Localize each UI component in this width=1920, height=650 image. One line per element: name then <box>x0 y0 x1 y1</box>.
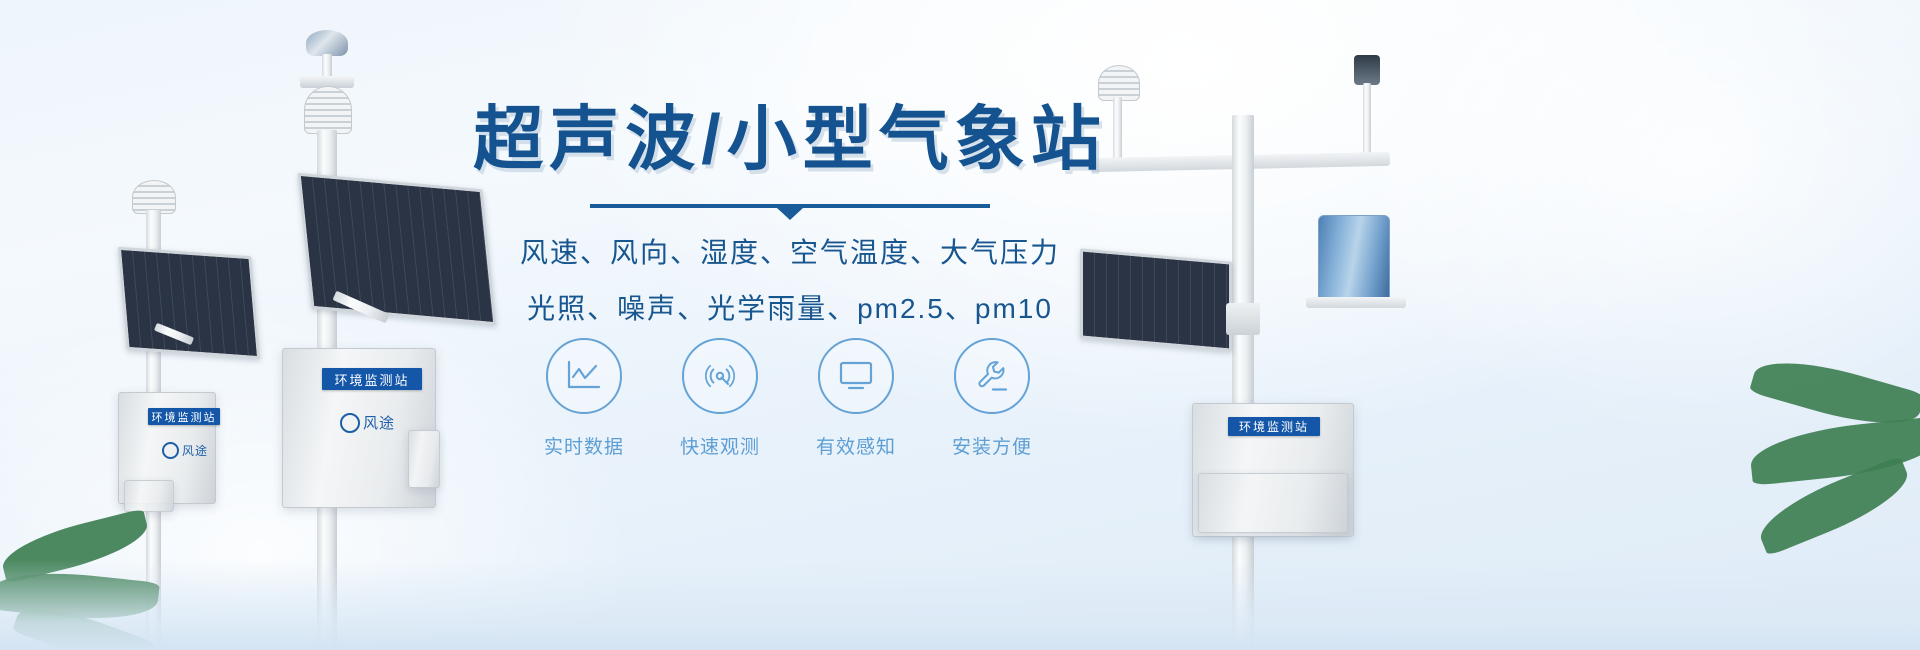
brand-logo-text: 风途 <box>363 412 395 433</box>
wind-vane-icon <box>1354 55 1380 85</box>
ultrasonic-sensor-icon <box>306 30 348 56</box>
ground-haze <box>0 560 1920 650</box>
wrench-tool-icon <box>973 358 1011 394</box>
feature-list: 实时数据 快速观测 有效感知 <box>528 338 1048 459</box>
brand-logo: 风途 <box>340 412 395 433</box>
lower-cross-arm <box>1306 297 1406 308</box>
subtitle-line-2: 光照、噪声、光学雨量、pm2.5、pm10 <box>450 282 1130 335</box>
hero-text-block: 超声波/小型气象站 风速、风向、湿度、空气温度、大气压力 光照、噪声、光学雨量、… <box>450 100 1130 335</box>
page-title: 超声波/小型气象站 <box>450 100 1130 178</box>
subtitle-line-1: 风速、风向、湿度、空气温度、大气压力 <box>450 226 1130 279</box>
sensor-stem-right <box>1363 83 1371 159</box>
feature-label: 快速观测 <box>664 432 776 459</box>
feature-item-realtime-data[interactable]: 实时数据 <box>528 338 640 459</box>
cabinet-side-box <box>408 430 440 488</box>
feature-item-easy-installation[interactable]: 安装方便 <box>936 338 1048 459</box>
feature-icon-circle <box>818 338 894 414</box>
brand-mark-icon <box>340 413 360 433</box>
brand-logo-text: 风途 <box>182 442 208 459</box>
pole-clamp <box>1226 303 1260 335</box>
feature-icon-circle <box>954 338 1030 414</box>
feature-item-fast-observation[interactable]: 快速观测 <box>664 338 776 459</box>
feature-label: 安装方便 <box>936 432 1048 459</box>
radiation-shield-icon <box>304 86 352 134</box>
radiation-shield-icon <box>1098 65 1140 101</box>
station-sign: 环境监测站 <box>148 408 220 425</box>
feature-label: 实时数据 <box>528 432 640 459</box>
radiation-shield-icon <box>132 180 176 214</box>
brand-logo: 风途 <box>162 442 208 459</box>
feature-icon-circle <box>546 338 622 414</box>
feature-item-effective-sensing[interactable]: 有效感知 <box>800 338 912 459</box>
title-divider <box>590 204 990 208</box>
radar-signal-icon <box>702 358 738 394</box>
station-sign: 环境监测站 <box>1228 417 1320 436</box>
monitor-display-icon <box>837 360 875 392</box>
station-sign: 环境监测站 <box>322 368 422 390</box>
feature-icon-circle <box>682 338 758 414</box>
cabinet-lower-panel <box>1198 473 1348 533</box>
feature-label: 有效感知 <box>800 432 912 459</box>
optical-rain-gauge <box>1318 215 1390 301</box>
sensor-stem <box>322 54 332 78</box>
brand-mark-icon <box>162 442 179 459</box>
product-banner: 环境监测站 风途 环境监测站 风途 环境监 <box>0 0 1920 650</box>
line-chart-icon <box>566 360 602 392</box>
